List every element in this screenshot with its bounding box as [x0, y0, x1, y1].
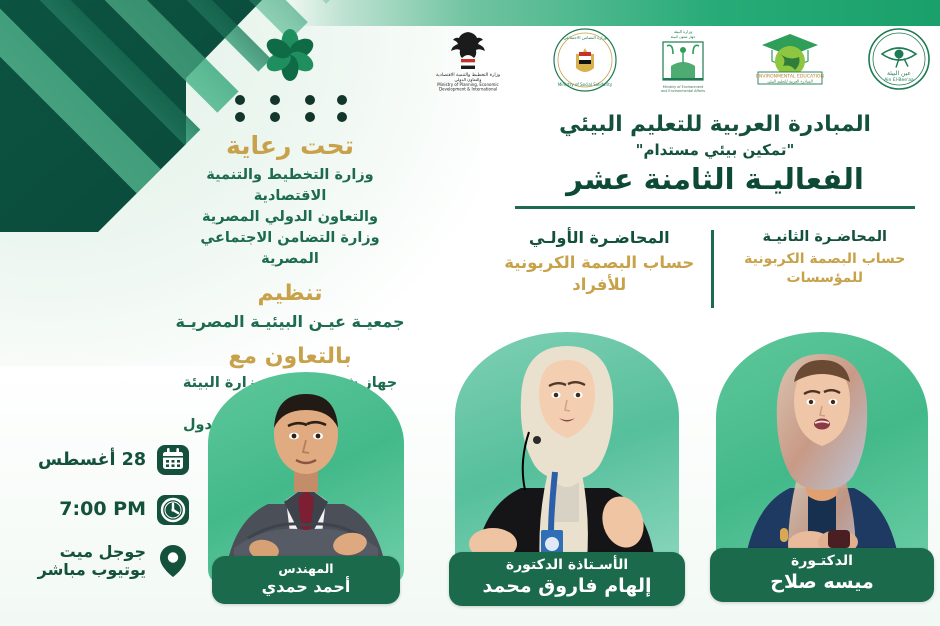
- svg-text:and Environmental Affairs: and Environmental Affairs: [661, 89, 705, 93]
- lecture-second-topic-line-2: للمؤسسات: [726, 269, 925, 288]
- graduation-cap-globe-icon: ENVIRONMENTAL EDUCATION المبادرة العربية…: [748, 26, 832, 92]
- six-petal-flower-logo: [260, 28, 320, 86]
- logo-ain-el-beaa: عين البيئة Ain El-Bee'aa: [866, 26, 932, 96]
- name-plate-maysa-salah: الدكتـورة ميسه صلاح: [710, 548, 934, 602]
- clock-icon: [156, 493, 190, 527]
- logo-environmental-education: ENVIRONMENTAL EDUCATION المبادرة العربية…: [748, 26, 832, 96]
- lecture-first-topic-line-2: للأفراد: [500, 274, 699, 296]
- lecture-second: المحاضـرة الثانيـة حساب البصمة الكربونية…: [718, 228, 933, 326]
- event-info-location: جوجل ميت يوتيوب مباشر: [10, 543, 190, 580]
- svg-text:Ain El-Bee'aa: Ain El-Bee'aa: [884, 77, 914, 83]
- cooperation-heading: بالتعاون مع: [170, 343, 410, 371]
- speaker-title-elham-farouk: الأسـتاذة الدكتورة: [459, 557, 675, 574]
- svg-text:المبادرة العربية للتعليم البيئ: المبادرة العربية للتعليم البيئي: [767, 79, 812, 84]
- organizer-line: جمعيـة عيـن البيئيـة المصريـة: [170, 310, 410, 333]
- location-pin-icon: [156, 544, 190, 578]
- name-plate-ahmed-hamdy: المهندس أحمد حمدي: [212, 556, 400, 604]
- title-block: المبادرة العربية للتعليم البيئي "تمكين ب…: [500, 112, 930, 209]
- lecture-first: المحاضـرة الأولـي حساب البصمة الكربونية …: [492, 228, 707, 326]
- patronage-line-3: وزارة التضامن الاجتماعي المصرية: [170, 228, 410, 270]
- svg-text:عين البيئة: عين البيئة: [887, 70, 911, 77]
- lecture-second-number: المحاضـرة الثانيـة: [726, 228, 925, 247]
- lecture-second-topic-line-1: حساب البصمة الكربونية: [726, 250, 925, 269]
- patronage-line-2: والتعاون الدولي المصرية: [170, 207, 410, 228]
- speaker-photo-ahmed-hamdy: [208, 372, 404, 584]
- svg-text:Ministry of Social Solidarity: Ministry of Social Solidarity: [557, 82, 612, 87]
- speaker-photo-maysa-salah: [716, 332, 928, 584]
- speaker-name-maysa-salah: ميسه صلاح: [720, 571, 924, 595]
- svg-text:وزارة التضامن الاجتماعي: وزارة التضامن الاجتماعي: [563, 35, 606, 40]
- patronage-line-1: وزارة التخطيط والتنمية الاقتصادية: [170, 165, 410, 207]
- lectures-section: المحاضـرة الأولـي حساب البصمة الكربونية …: [492, 228, 932, 326]
- speaker-card-ahmed-hamdy: المهندس أحمد حمدي: [208, 372, 404, 584]
- event-time-text: 7:00 PM: [59, 499, 146, 521]
- partner-logo-strip: عين البيئة Ain El-Bee'aa ENVIRONMENTAL E…: [420, 26, 932, 98]
- dot-grid-decoration: [231, 92, 349, 122]
- calendar-icon: [156, 443, 190, 477]
- event-info-date: 28 أغسطس: [10, 443, 190, 477]
- logo-ministry-of-social-solidarity: وزارة التضامن الاجتماعي Ministry of Soci…: [551, 26, 619, 98]
- lecture-first-topic-line-1: حساب البصمة الكربونية: [500, 252, 699, 274]
- speaker-name-elham-farouk: إلهام فاروق محمد: [459, 575, 675, 599]
- speaker-card-maysa-salah: الدكتـورة ميسه صلاح: [716, 332, 928, 584]
- lecture-first-number: المحاضـرة الأولـي: [500, 228, 699, 249]
- speaker-name-ahmed-hamdy: أحمد حمدي: [222, 577, 390, 597]
- svg-text:جهاز شئون البيئة: جهاز شئون البيئة: [671, 35, 696, 39]
- title-divider-rule: [515, 206, 915, 209]
- event-date-text: 28 أغسطس: [38, 450, 146, 470]
- svg-text:Development & International: Development & International: [439, 87, 497, 92]
- organizer-heading: تنظيم: [170, 280, 410, 308]
- patronage-heading: تحت رعاية: [170, 130, 410, 161]
- portrait-illustration: [208, 372, 404, 584]
- speaker-title-ahmed-hamdy: المهندس: [222, 561, 390, 576]
- ain-el-beaa-seal-icon: عين البيئة Ain El-Bee'aa: [866, 26, 932, 92]
- initiative-slogan: "تمكين بيئي مستدام": [500, 141, 930, 159]
- initiative-title: المبادرة العربية للتعليم البيئي: [500, 112, 930, 138]
- logo-ministry-of-environment: وزارة البيئة جهاز شئون البيئة Ministry o…: [653, 26, 713, 100]
- top-green-banner: [290, 0, 940, 26]
- event-info-time: 7:00 PM: [10, 493, 190, 527]
- event-info-list: 28 أغسطس 7:00 PM جوجل ميت يوتيوب مباشر: [10, 443, 190, 596]
- event-location-text: جوجل ميت يوتيوب مباشر: [38, 543, 146, 580]
- event-edition-title: الفعاليـة الثامنة عشر: [500, 163, 930, 196]
- ministry-of-environment-icon: وزارة البيئة جهاز شئون البيئة Ministry o…: [653, 26, 713, 96]
- svg-text:وزارة البيئة: وزارة البيئة: [674, 29, 692, 34]
- ministry-of-social-solidarity-icon: وزارة التضامن الاجتماعي Ministry of Soci…: [551, 26, 619, 94]
- ministry-of-planning-eagle-icon: وزارة التخطيط والتنمية الاقتصادية والتعا…: [420, 26, 516, 94]
- speaker-photo-elham-farouk: [455, 332, 679, 580]
- portrait-illustration: [455, 332, 679, 580]
- speaker-card-elham-farouk: الأسـتاذة الدكتورة إلهام فاروق محمد: [455, 332, 679, 580]
- portrait-illustration: [716, 332, 928, 584]
- lectures-vertical-divider: [711, 230, 714, 308]
- event-poster: تحت رعاية وزارة التخطيط والتنمية الاقتصا…: [0, 0, 940, 626]
- logo-ministry-of-planning: وزارة التخطيط والتنمية الاقتصادية والتعا…: [420, 26, 516, 98]
- name-plate-elham-farouk: الأسـتاذة الدكتورة إلهام فاروق محمد: [449, 552, 685, 606]
- speaker-title-maysa-salah: الدكتـورة: [720, 553, 924, 570]
